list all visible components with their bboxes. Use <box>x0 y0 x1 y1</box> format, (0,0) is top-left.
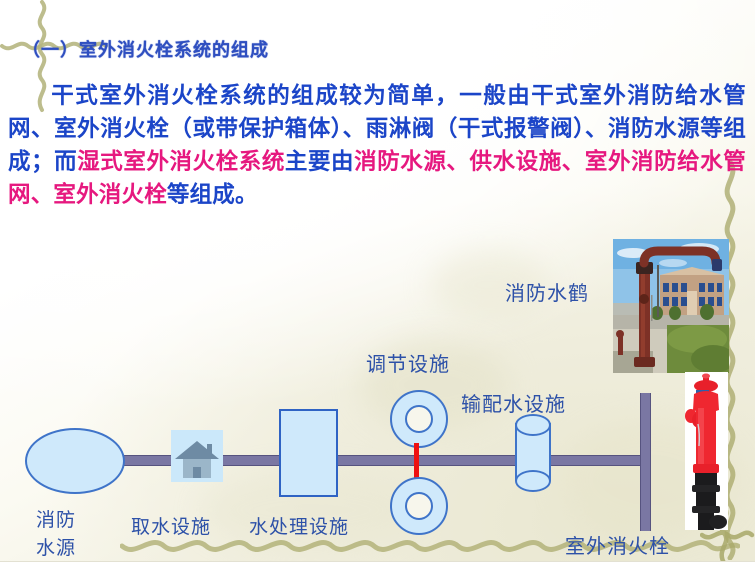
node-regulation-ring-bottom-hole <box>405 492 433 520</box>
label-outdoor-hydrant: 室外消火栓 <box>565 530 670 559</box>
label-distribution-facility: 输配水设施 <box>461 388 566 417</box>
photo-outdoor-hydrant <box>685 372 728 530</box>
pipe-segment-treatment-to-riser <box>332 455 648 466</box>
slide-canvas: （一）室外消火栓系统的组成 干式室外消火栓系统的组成较为简单，一般由干式室外消防… <box>0 0 755 568</box>
node-intake-facility <box>171 430 223 482</box>
slide-title: （一）室外消火栓系统的组成 <box>22 36 269 62</box>
label-regulation-facility: 调节设施 <box>366 348 450 377</box>
body-segment-2: 主要由 <box>285 149 354 175</box>
body-segment-4: 等组成。 <box>167 182 258 208</box>
label-intake-facility: 取水设施 <box>131 512 211 539</box>
node-treatment-facility <box>279 409 338 497</box>
node-water-source <box>25 428 125 494</box>
pipe-segment-intake-to-treatment <box>222 455 282 466</box>
pipe-riser-vertical <box>640 393 651 531</box>
label-water-source-line2: 水源 <box>36 533 76 560</box>
slide-bottom-bar <box>0 561 755 568</box>
label-water-source-line1: 消防 <box>36 505 76 532</box>
node-regulation-ring-top-hole <box>405 405 433 433</box>
photo-water-crane <box>613 239 729 373</box>
label-treatment-facility: 水处理设施 <box>249 512 349 539</box>
body-segment-1: 湿式室外消火栓系统 <box>77 149 285 175</box>
label-water-crane: 消防水鹤 <box>505 277 589 306</box>
body-paragraph: 干式室外消火栓系统的组成较为简单，一般由干式室外消防给水管网、室外消火栓（或带保… <box>8 80 746 212</box>
node-distribution-cylinder-bottom <box>515 470 551 492</box>
node-distribution-cylinder-top <box>515 414 551 436</box>
house-icon <box>171 430 223 482</box>
